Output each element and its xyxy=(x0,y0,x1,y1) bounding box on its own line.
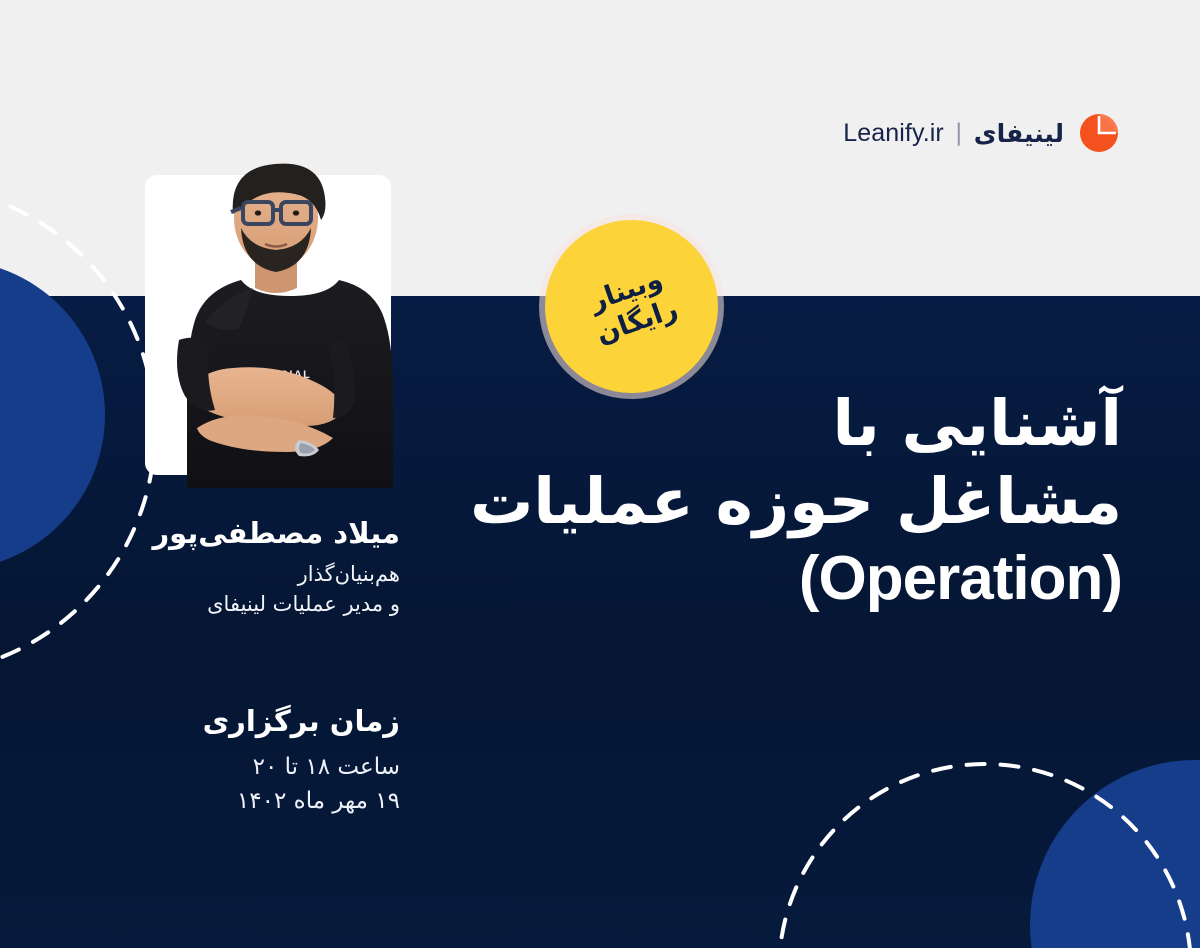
dashed-arc-right-icon xyxy=(775,760,1195,948)
free-webinar-badge: وبینار رایگان xyxy=(545,220,718,393)
event-time-heading: زمان برگزاری xyxy=(100,703,400,741)
logo-text-en: Leanify.ir xyxy=(843,119,944,148)
title-line-3: (Operation) xyxy=(482,541,1122,618)
leanify-circle-logo-icon xyxy=(1078,112,1120,154)
event-date: ۱۹ مهر ماه ۱۴۰۲ xyxy=(100,784,400,819)
webinar-banner: لینیفای | Leanify.ir xyxy=(0,0,1200,948)
speaker-photo: UNOFFICIAL FASHION xyxy=(145,140,435,488)
event-time-info: زمان برگزاری ساعت ۱۸ تا ۲۰ ۱۹ مهر ماه ۱۴… xyxy=(100,703,400,819)
logo-text-fa: لینیفای xyxy=(974,119,1064,148)
speaker-role-line-1: هم‌بنیان‌گذار xyxy=(100,560,400,590)
logo-separator: | xyxy=(955,120,963,146)
brand-logo[interactable]: لینیفای | Leanify.ir xyxy=(843,112,1120,154)
speaker-role: هم‌بنیان‌گذار و مدیر عملیات لینیفای xyxy=(100,560,400,620)
speaker-role-line-2: و مدیر عملیات لینیفای xyxy=(100,590,400,620)
event-time-detail: ساعت ۱۸ تا ۲۰ ۱۹ مهر ماه ۱۴۰۲ xyxy=(100,750,400,819)
title-line-1: آشنایی با xyxy=(482,385,1122,463)
speaker-info: میلاد مصطفی‌پور هم‌بنیان‌گذار و مدیر عمل… xyxy=(100,515,400,619)
badge-text: وبینار رایگان xyxy=(581,262,682,352)
title-line-2: مشاغل حوزه عملیات xyxy=(482,463,1122,541)
speaker-name: میلاد مصطفی‌پور xyxy=(100,515,400,553)
event-time-hours: ساعت ۱۸ تا ۲۰ xyxy=(100,750,400,785)
webinar-title: آشنایی با مشاغل حوزه عملیات (Operation) xyxy=(482,385,1122,618)
